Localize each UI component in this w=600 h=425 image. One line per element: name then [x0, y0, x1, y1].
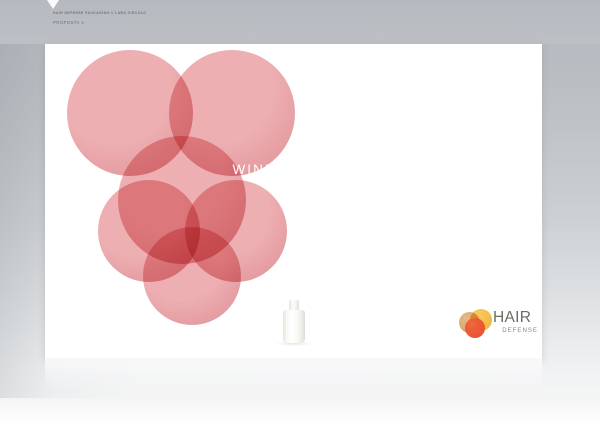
logo-sub-name: DEFENSE [493, 328, 539, 334]
project-kicker: HAIR DEFENSE PACKAGING // LARA CIRCOLO [53, 12, 146, 16]
product-bottle [264, 298, 324, 346]
floor-gradient [0, 398, 600, 425]
triangle-down-icon [47, 0, 59, 9]
brand-logo: HAIR DEFENSE [457, 306, 539, 348]
presentation-slide: HAIR DEFENSE PACKAGING // LARA CIRCOLO P… [0, 0, 600, 425]
logo-brand-name: HAIR [493, 310, 539, 326]
canvas-reflection [45, 358, 542, 392]
header-band: HAIR DEFENSE PACKAGING // LARA CIRCOLO P… [0, 0, 600, 44]
header-text-group: HAIR DEFENSE PACKAGING // LARA CIRCOLO P… [53, 12, 146, 25]
slide-canvas: WINETERAPHY HAIR DEFENSE [45, 44, 542, 358]
logo-circle-red-icon [465, 318, 485, 338]
proposal-label: PROPOSTA 4 [53, 21, 146, 25]
berry-bottom [143, 227, 241, 325]
logo-wordmark: HAIR DEFENSE [493, 310, 539, 334]
bottle-body [283, 310, 305, 343]
